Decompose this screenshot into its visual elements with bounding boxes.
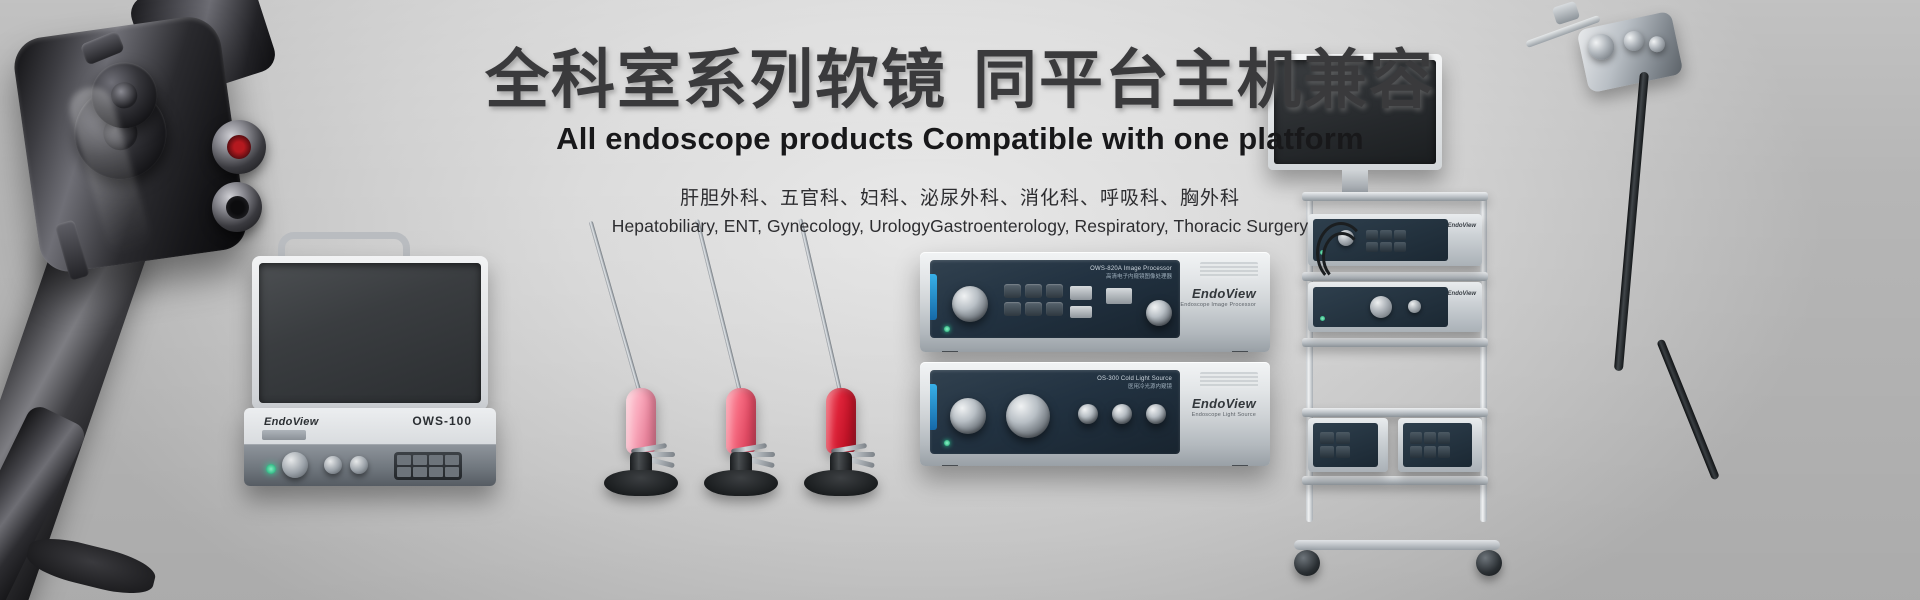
processor-panel-title: OWS-820A Image Processor 高清电子内窥镜图像处理器 xyxy=(1090,266,1172,280)
cart-device-light-source: EndoView xyxy=(1308,282,1482,332)
cart-caster-left xyxy=(1294,550,1320,576)
console-main-knob xyxy=(282,452,308,478)
surgical-instrument-red xyxy=(766,242,916,500)
cart-shelf-4 xyxy=(1302,408,1488,417)
console-display-bezel xyxy=(252,256,488,410)
instrument-shaft xyxy=(589,221,645,405)
cart-caster-right xyxy=(1476,550,1502,576)
cart-device-brightness-knob xyxy=(1370,296,1392,318)
processor-port-1 xyxy=(1070,286,1092,300)
light-source-button-2 xyxy=(1112,404,1132,424)
page-subtitle: All endoscope products Compatible with o… xyxy=(0,121,1920,157)
cart-device-aux-right xyxy=(1398,418,1482,472)
processor-usb-port xyxy=(1106,288,1132,304)
console-monitor-product-image: EndoView OWS-100 xyxy=(236,236,506,486)
departments-chinese: 肝胆外科、五官科、妇科、泌尿外科、消化科、呼吸科、胸外科 xyxy=(0,183,1920,210)
cart-device-button xyxy=(1408,300,1421,313)
cart-device-aux-left xyxy=(1308,418,1388,472)
processor-brand-subtext: Endoscope Image Processor xyxy=(1180,302,1256,308)
cart-base-frame xyxy=(1294,540,1500,550)
cart-device-brand: EndoView xyxy=(1448,291,1476,297)
console-button-pad xyxy=(394,452,462,480)
console-card-slot xyxy=(262,430,306,440)
endoscope-tube-tip xyxy=(23,531,159,600)
instrument-shaft xyxy=(695,219,745,404)
console-display-screen xyxy=(259,263,481,403)
console-knob-secondary-1 xyxy=(324,456,342,474)
banner-text-block: 全科室系列软镜同平台主机兼容 All endoscope products Co… xyxy=(0,46,1920,237)
instrument-display-stand xyxy=(804,470,878,496)
light-source-button-3 xyxy=(1146,404,1166,424)
cart-shelf-5 xyxy=(1302,476,1488,485)
light-source-front-panel: OS-300 Cold Light Source 医用冷光源内窥镜 xyxy=(930,370,1180,454)
marketing-banner: EndoView OWS-100 xyxy=(0,0,1920,600)
scope-flexible-tube-lower xyxy=(1656,339,1720,481)
processor-scope-socket xyxy=(1146,300,1172,326)
page-title: 全科室系列软镜同平台主机兼容 xyxy=(0,46,1920,115)
light-source-unit: OS-300 Cold Light Source 医用冷光源内窥镜 EndoVi… xyxy=(920,362,1270,466)
instrument-shaft xyxy=(798,218,845,404)
console-knob-secondary-2 xyxy=(350,456,368,474)
light-source-brand-subtext: Endoscope Light Source xyxy=(1192,412,1256,418)
processor-port-2 xyxy=(1070,306,1092,318)
processor-brand-label: EndoView xyxy=(1192,286,1256,301)
processor-status-led xyxy=(944,326,950,332)
cart-cable-coil-inner xyxy=(1322,232,1362,282)
light-source-accent-bar xyxy=(930,384,937,430)
stacked-processor-units: OWS-820A Image Processor 高清电子内窥镜图像处理器 En… xyxy=(920,252,1280,492)
headline-part-1: 全科室系列软镜 xyxy=(485,44,947,116)
console-power-led xyxy=(266,464,276,474)
light-source-panel-title: OS-300 Cold Light Source 医用冷光源内窥镜 xyxy=(1097,376,1172,390)
cart-shelf-3 xyxy=(1302,338,1488,347)
light-source-scope-socket xyxy=(950,398,986,434)
light-source-brightness-knob xyxy=(1006,394,1050,438)
processor-accent-bar xyxy=(930,274,937,320)
headline-part-2: 同平台主机兼容 xyxy=(973,44,1435,116)
cart-device-keypad xyxy=(1320,432,1350,458)
processor-front-panel: OWS-820A Image Processor 高清电子内窥镜图像处理器 xyxy=(930,260,1180,338)
console-brand-label: EndoView xyxy=(264,416,319,428)
console-control-panel: EndoView OWS-100 xyxy=(244,408,496,486)
console-model-label: OWS-100 xyxy=(412,414,472,428)
processor-keypad xyxy=(1004,284,1063,316)
processor-main-knob xyxy=(952,286,988,322)
departments-english: Hepatobiliary, ENT, Gynecology, UrologyG… xyxy=(0,216,1920,237)
light-source-status-led xyxy=(944,440,950,446)
cart-device-keypad xyxy=(1410,432,1450,458)
processor-vent xyxy=(1200,262,1258,278)
light-source-vent xyxy=(1200,372,1258,388)
light-source-button-1 xyxy=(1078,404,1098,424)
light-source-brand-label: EndoView xyxy=(1192,396,1256,411)
image-processor-unit: OWS-820A Image Processor 高清电子内窥镜图像处理器 En… xyxy=(920,252,1270,352)
scope-clamp xyxy=(1552,1,1580,26)
